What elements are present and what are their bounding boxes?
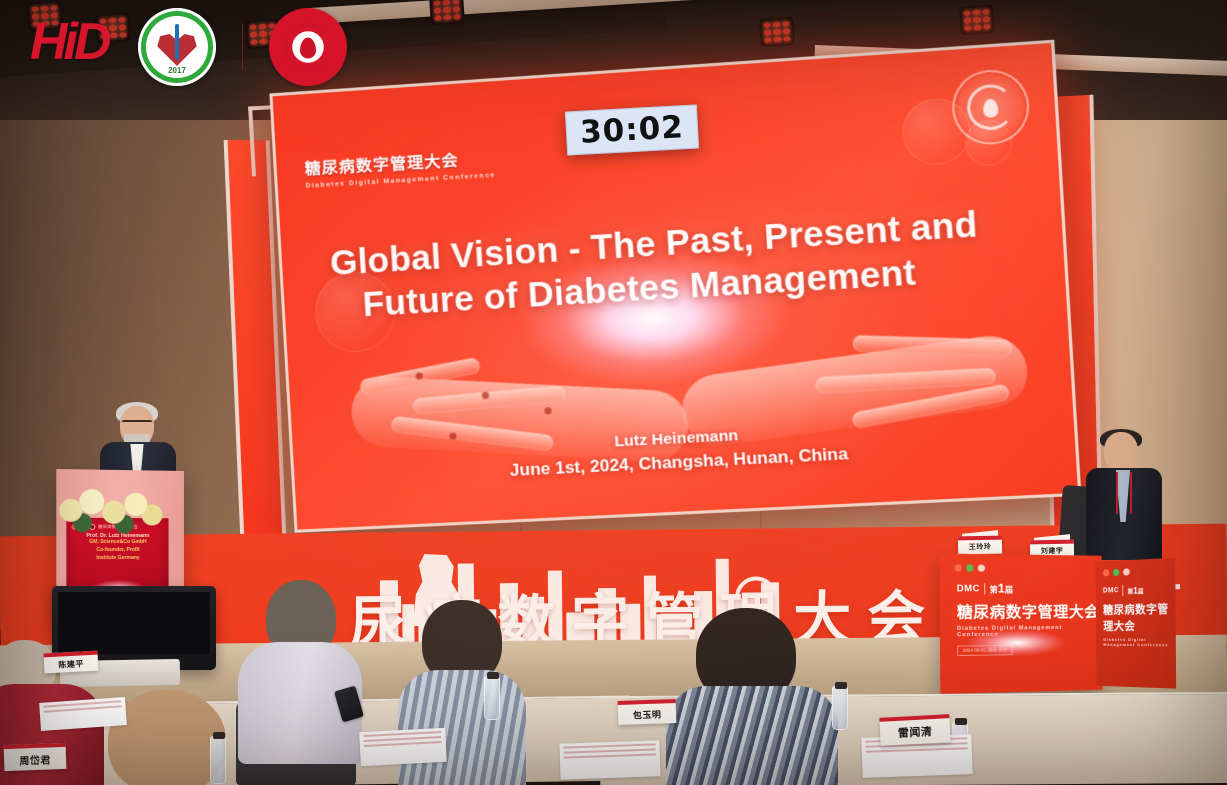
countdown-timer[interactable]: 30:02 [565, 104, 699, 155]
swirl-icon [284, 23, 332, 71]
stage-light [759, 17, 795, 47]
hid-logo-glyph: HiD [30, 16, 112, 68]
panel-desk-mark: DMC [957, 583, 980, 593]
audience-person-woman [672, 608, 820, 785]
stage-light [959, 5, 995, 35]
person-head [108, 690, 226, 785]
water-bottle [210, 736, 226, 784]
conference-emblem-logo [269, 8, 347, 86]
panel-desk-branding-side: DMC 第1届 糖尿病数字管理大会 Diabetes Digital Manag… [1103, 583, 1176, 647]
asclepius-rod-icon [175, 24, 179, 60]
logo-divider [242, 24, 243, 70]
lanyard-icon [1116, 472, 1132, 514]
flower-arrangement [50, 474, 166, 540]
name-card-audience-far-left: 陈建平 [44, 651, 99, 674]
stage-light [429, 0, 465, 25]
panel-desk-logos-side [1103, 568, 1130, 576]
panel-desk-ordinal-prefix: 第 [989, 585, 997, 594]
name-card-audience-mid: 包玉明 [618, 699, 677, 725]
sponsor-logo-bar: HiD 2017 [30, 8, 347, 86]
name-card-audience-right: 雷闻清 [879, 714, 950, 746]
panel-desk-ordinal-suffix: 届 [1005, 585, 1013, 594]
panel-desk: DMC 第1届 糖尿病数字管理大会 Diabetes Digital Manag… [944, 555, 1181, 693]
panel-desk-side-face: DMC 第1届 糖尿病数字管理大会 Diabetes Digital Manag… [1096, 558, 1177, 689]
lectern-sign-line4: Institute Germany [71, 554, 163, 562]
panelist-person [1086, 432, 1166, 558]
name-card-panel-left: 王玲玲 [958, 536, 1002, 555]
panel-desk-ordinal-suffix-side: 届 [1138, 589, 1144, 595]
handout-document [359, 728, 447, 766]
timer-value: 30:02 [579, 109, 684, 151]
conference-hall-scene: 糖尿病数字管理大会 Diabetes Digital Management Co… [0, 0, 1227, 785]
handout-document [559, 740, 660, 779]
panel-desk-ordinal-number: 1 [998, 581, 1005, 595]
panel-desk-title-en-side: Diabetes Digital Management Conference [1103, 637, 1176, 648]
panel-desk-mark-side: DMC [1103, 587, 1119, 595]
beijing-diabetes-association-logo: 2017 [138, 8, 216, 86]
panel-desk-logos [954, 564, 985, 572]
lectern-sign-line2: GM, Science&Co GmbH [71, 539, 163, 547]
panel-desk-title-cn: 糖尿病数字管理大会 [957, 601, 1102, 623]
slide-header-logo: 糖尿病数字管理大会 Diabetes Digital Management Co… [304, 145, 496, 190]
person-torso [398, 670, 526, 785]
water-bottle [832, 686, 848, 730]
person-torso [666, 686, 838, 785]
hid-logo: HiD [30, 16, 112, 78]
blood-drop-icon [300, 37, 316, 58]
panel-desk-title-cn-side: 糖尿病数字管理大会 [1103, 600, 1176, 634]
audience-person-man [238, 580, 358, 760]
name-card-audience-left: 周岱君 [4, 743, 67, 771]
handout-document [39, 697, 127, 731]
panel-desk-glow [966, 629, 1065, 657]
association-founding-year: 2017 [146, 66, 208, 75]
water-bottle [484, 676, 500, 720]
panelist-head [1104, 432, 1138, 472]
glasses-icon [122, 420, 152, 427]
panel-desk-front-face: DMC 第1届 糖尿病数字管理大会 Diabetes Digital Manag… [939, 554, 1102, 695]
